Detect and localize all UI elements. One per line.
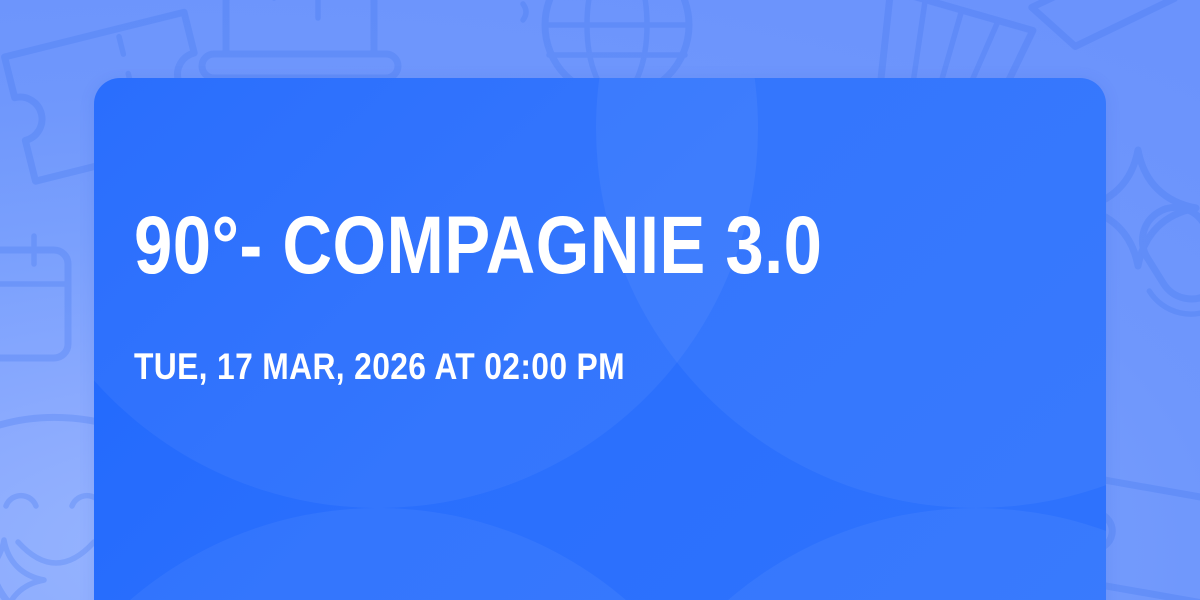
confetti-icon bbox=[1022, 0, 1200, 53]
laptop-icon bbox=[202, 0, 398, 78]
microphone-icon bbox=[1116, 187, 1200, 358]
event-card[interactable]: 90°- COMPAGNIE 3.0 TUE, 17 MAR, 2026 AT … bbox=[94, 78, 1106, 600]
event-card-content: 90°- COMPAGNIE 3.0 TUE, 17 MAR, 2026 AT … bbox=[134, 78, 1066, 600]
event-banner: 90°- COMPAGNIE 3.0 TUE, 17 MAR, 2026 AT … bbox=[0, 0, 1200, 600]
event-datetime: TUE, 17 MAR, 2026 AT 02:00 PM bbox=[134, 345, 625, 389]
balloon-icon bbox=[523, 4, 526, 20]
event-title: 90°- COMPAGNIE 3.0 bbox=[134, 200, 822, 292]
calendar-icon bbox=[0, 236, 68, 358]
